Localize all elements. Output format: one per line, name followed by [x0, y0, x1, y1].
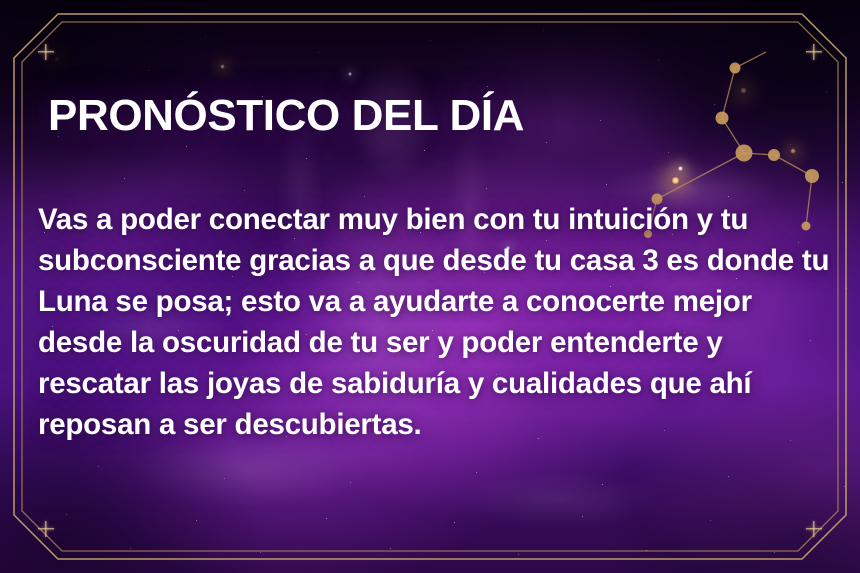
- page-title: PRONÓSTICO DEL DÍA: [48, 92, 524, 140]
- poster-content: PRONÓSTICO DEL DÍA Vas a poder conectar …: [46, 0, 836, 573]
- horoscope-poster: PRONÓSTICO DEL DÍA Vas a poder conectar …: [0, 0, 860, 573]
- forecast-body-text: Vas a poder conectar muy bien con tu int…: [38, 199, 838, 445]
